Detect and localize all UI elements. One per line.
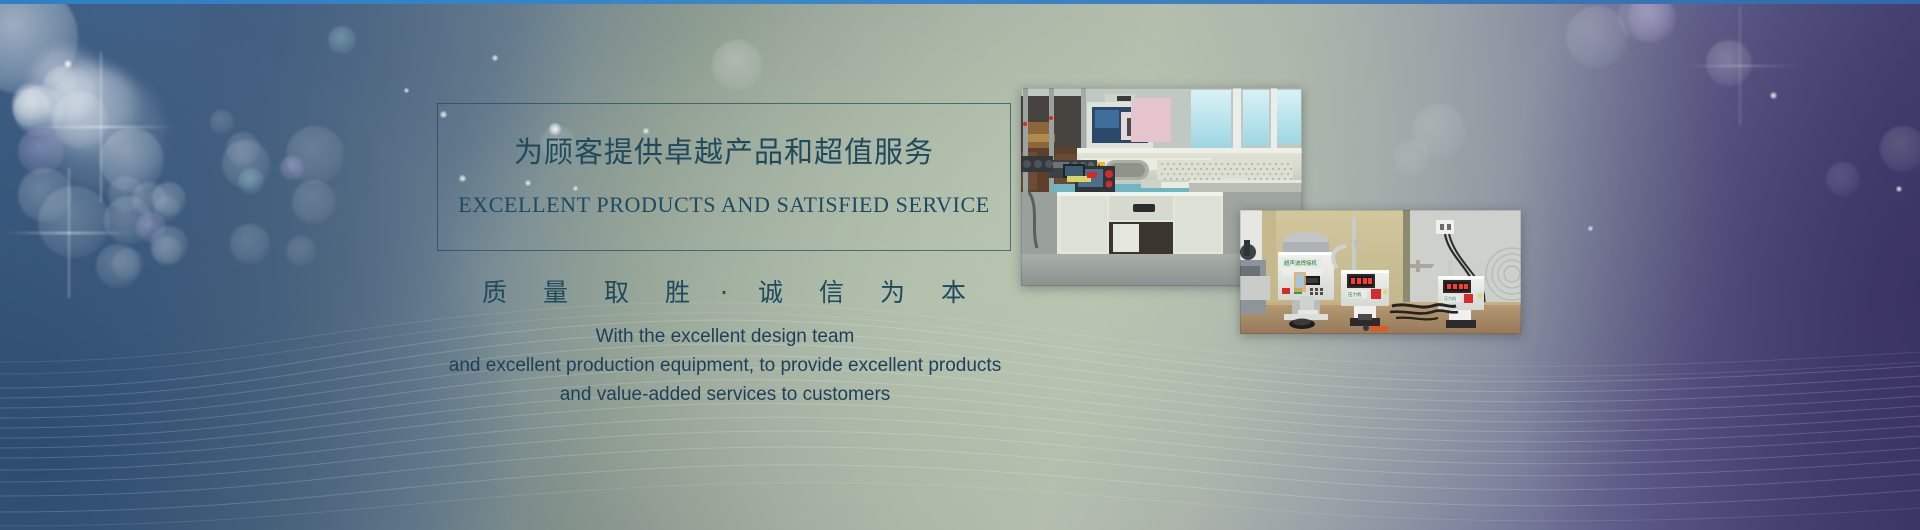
svg-text:压力机: 压力机 [1348, 291, 1362, 298]
slogan-char: 本 [941, 278, 966, 307]
headline-chinese: 为顾客提供卓越产品和超值服务 [437, 130, 1011, 174]
photo-press-machines-artwork: 超声波焊接机 [1240, 210, 1521, 334]
slogan-char: 取 [604, 278, 629, 307]
svg-text:压力机: 压力机 [1444, 295, 1456, 301]
photo-press-machines-workbench: 超声波焊接机 [1240, 210, 1521, 334]
slogan-char: 为 [880, 278, 905, 307]
description-paragraph: With the excellent design team and excel… [330, 322, 1120, 409]
description-line: With the excellent design team [330, 322, 1120, 351]
svg-text:超声波焊接机: 超声波焊接机 [1284, 259, 1318, 267]
slogan-char: 量 [543, 278, 568, 307]
slogan-char: 质 [482, 278, 507, 307]
slogan-chinese: 质量取胜·诚信为本 [437, 275, 1011, 311]
subheadline-english: EXCELLENT PRODUCTS AND SATISFIED SERVICE [437, 190, 1011, 220]
promo-banner: 为顾客提供卓越产品和超值服务 EXCELLENT PRODUCTS AND SA… [0, 0, 1920, 530]
banner-content: 为顾客提供卓越产品和超值服务 EXCELLENT PRODUCTS AND SA… [0, 0, 1920, 530]
slogan-char: 胜 [665, 278, 690, 307]
description-line: and excellent production equipment, to p… [330, 351, 1120, 380]
slogan-char: 信 [819, 278, 844, 307]
description-line: and value-added services to customers [330, 380, 1120, 409]
slogan-char: 诚 [758, 278, 783, 307]
headline-frame [437, 103, 1011, 251]
slogan-separator: · [720, 278, 728, 307]
